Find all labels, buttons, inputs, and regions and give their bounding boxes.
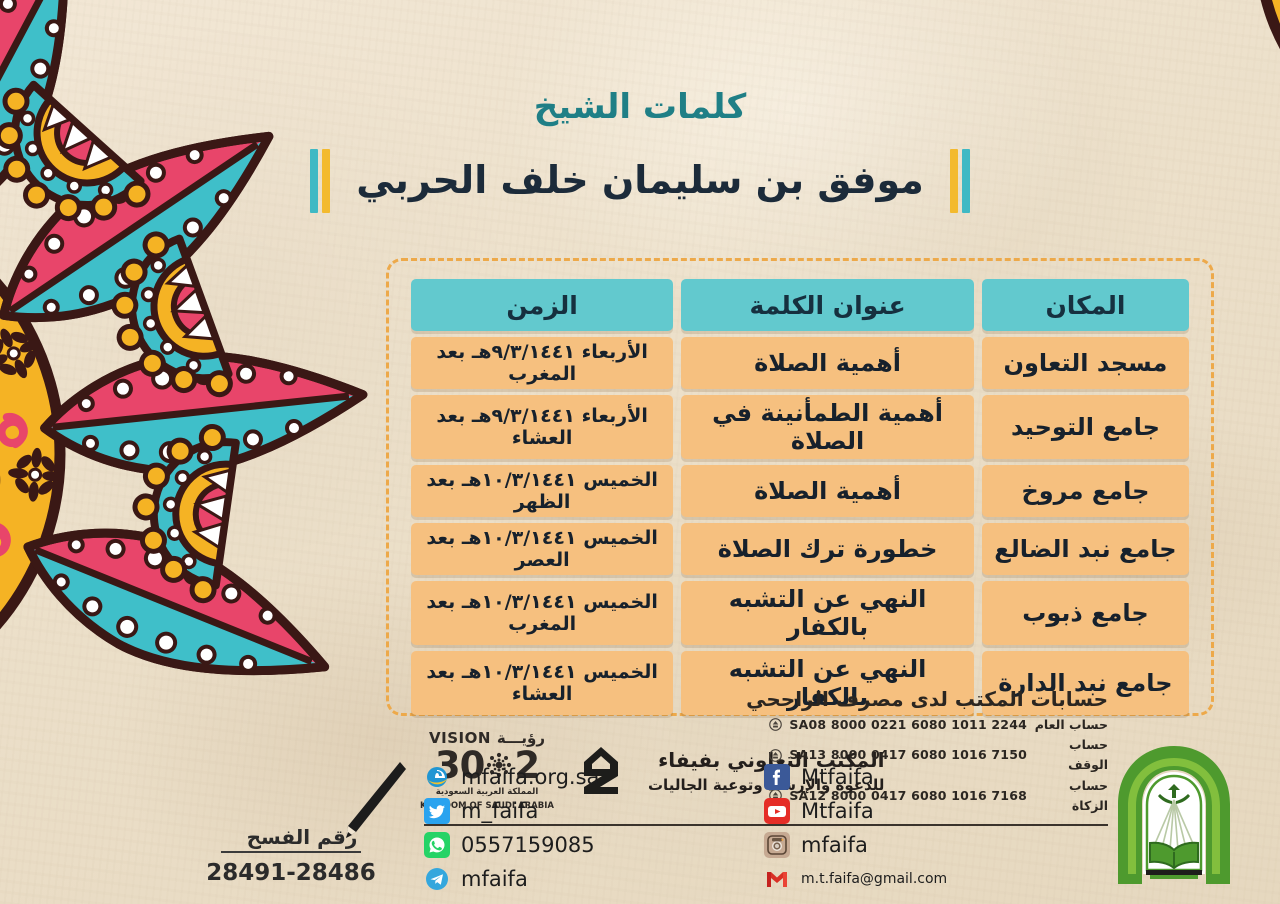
social-text: m_faifa xyxy=(461,799,538,823)
accent-bars-left xyxy=(310,149,330,213)
cell-time: الخميس ١٠/٣/١٤٤١هـ بعد العصر xyxy=(411,523,673,575)
bank-accounts-title: حسابات المكتب لدى مصرف الراجحي xyxy=(746,687,1108,711)
social-link-telegram[interactable]: mfaifa xyxy=(424,866,764,892)
poster-footer: رقم الفسح 28491-28486 المكتب التعاوني بف… xyxy=(0,729,1280,904)
social-link-website[interactable]: mfaifa.org.sa xyxy=(424,764,764,790)
permit-block: رقم الفسح 28491-28486 xyxy=(186,825,396,886)
cell-time: الأربعاء ٩/٣/١٤٤١هـ بعد العشاء xyxy=(411,395,673,459)
social-text: m.t.faifa@gmail.com xyxy=(801,871,947,887)
schedule-table: المكان عنوان الكلمة الزمن مسجد التعاون أ… xyxy=(403,273,1197,721)
cell-place: مسجد التعاون xyxy=(982,337,1189,389)
social-link-instagram[interactable]: mfaifa xyxy=(764,832,1104,858)
accent-bar-yellow xyxy=(950,149,958,213)
column-header-topic: عنوان الكلمة xyxy=(681,279,974,331)
telegram-icon xyxy=(424,866,450,892)
sheikh-name: موفق بن سليمان خلف الحربي xyxy=(356,158,924,204)
social-link-youtube[interactable]: Mtfaifa xyxy=(764,798,1104,824)
cell-topic: النهي عن التشبه بالكفار xyxy=(681,581,974,645)
cell-time: الخميس ١٠/٣/١٤٤١هـ بعد العشاء xyxy=(411,651,673,715)
accent-bar-teal xyxy=(962,149,970,213)
accent-bar-teal xyxy=(310,149,318,213)
social-link-facebook[interactable]: Mtfaifa xyxy=(764,764,1104,790)
table-row: جامع التوحيد أهمية الطمأنينة في الصلاة ا… xyxy=(411,395,1189,459)
social-text: mfaifa xyxy=(801,833,868,857)
youtube-icon xyxy=(764,798,790,824)
instagram-icon xyxy=(764,832,790,858)
column-header-time: الزمن xyxy=(411,279,673,331)
permit-number: 28491-28486 xyxy=(186,860,396,886)
cell-place: جامع التوحيد xyxy=(982,395,1189,459)
social-link-gmail[interactable]: m.t.faifa@gmail.com xyxy=(764,866,1104,892)
ministry-of-islamic-affairs-emblem xyxy=(1110,742,1238,888)
bank-account-row: حساب العام SA08 8000 0221 6080 1011 2244 xyxy=(746,715,1108,735)
social-text: 0557159085 xyxy=(461,833,595,857)
table-row: جامع مروخ أهمية الصلاة الخميس ١٠/٣/١٤٤١ه… xyxy=(411,465,1189,517)
table-header-row: المكان عنوان الكلمة الزمن xyxy=(411,279,1189,331)
title-row: موفق بن سليمان خلف الحربي xyxy=(0,149,1280,213)
social-text: Mtfaifa xyxy=(801,799,874,823)
social-links: mfaifa.org.sa Mtfaifa m_faifa xyxy=(424,760,1104,896)
cell-topic: أهمية الصلاة xyxy=(681,465,974,517)
schedule-table-frame: المكان عنوان الكلمة الزمن مسجد التعاون أ… xyxy=(386,258,1214,716)
cell-place: جامع ذبوب xyxy=(982,581,1189,645)
permit-label: رقم الفسح xyxy=(221,825,362,853)
social-text: mfaifa xyxy=(461,867,528,891)
accent-bar-yellow xyxy=(322,149,330,213)
cell-time: الأربعاء ٩/٣/١٤٤١هـ بعد المغرب xyxy=(411,337,673,389)
internet-explorer-icon xyxy=(424,764,450,790)
table-row: مسجد التعاون أهمية الصلاة الأربعاء ٩/٣/١… xyxy=(411,337,1189,389)
cell-topic: خطورة ترك الصلاة xyxy=(681,523,974,575)
social-text: Mtfaifa xyxy=(801,765,874,789)
twitter-icon xyxy=(424,798,450,824)
cell-topic: أهمية الطمأنينة في الصلاة xyxy=(681,395,974,459)
cell-time: الخميس ١٠/٣/١٤٤١هـ بعد المغرب xyxy=(411,581,673,645)
poster-canvas: كلمات الشيخ موفق بن سليمان خلف الحربي ال… xyxy=(0,0,1280,904)
cell-time: الخميس ١٠/٣/١٤٤١هـ بعد الظهر xyxy=(411,465,673,517)
poster-header: كلمات الشيخ موفق بن سليمان خلف الحربي xyxy=(0,86,1280,213)
facebook-icon xyxy=(764,764,790,790)
cell-place: جامع نبد الضالع xyxy=(982,523,1189,575)
bank-badge-icon xyxy=(769,718,782,731)
social-link-whatsapp[interactable]: 0557159085 xyxy=(424,832,764,858)
accent-bars-right xyxy=(950,149,970,213)
social-link-twitter[interactable]: m_faifa xyxy=(424,798,764,824)
cell-topic: أهمية الصلاة xyxy=(681,337,974,389)
bank-account-name: حساب العام xyxy=(1034,715,1108,735)
cell-place: جامع مروخ xyxy=(982,465,1189,517)
whatsapp-icon xyxy=(424,832,450,858)
table-row: جامع ذبوب النهي عن التشبه بالكفار الخميس… xyxy=(411,581,1189,645)
gmail-icon xyxy=(764,866,790,892)
kicker-text: كلمات الشيخ xyxy=(0,86,1280,129)
social-text: mfaifa.org.sa xyxy=(461,765,599,789)
bank-account-iban: SA08 8000 0221 6080 1011 2244 xyxy=(789,715,1027,735)
table-row: جامع نبد الضالع خطورة ترك الصلاة الخميس … xyxy=(411,523,1189,575)
column-header-place: المكان xyxy=(982,279,1189,331)
